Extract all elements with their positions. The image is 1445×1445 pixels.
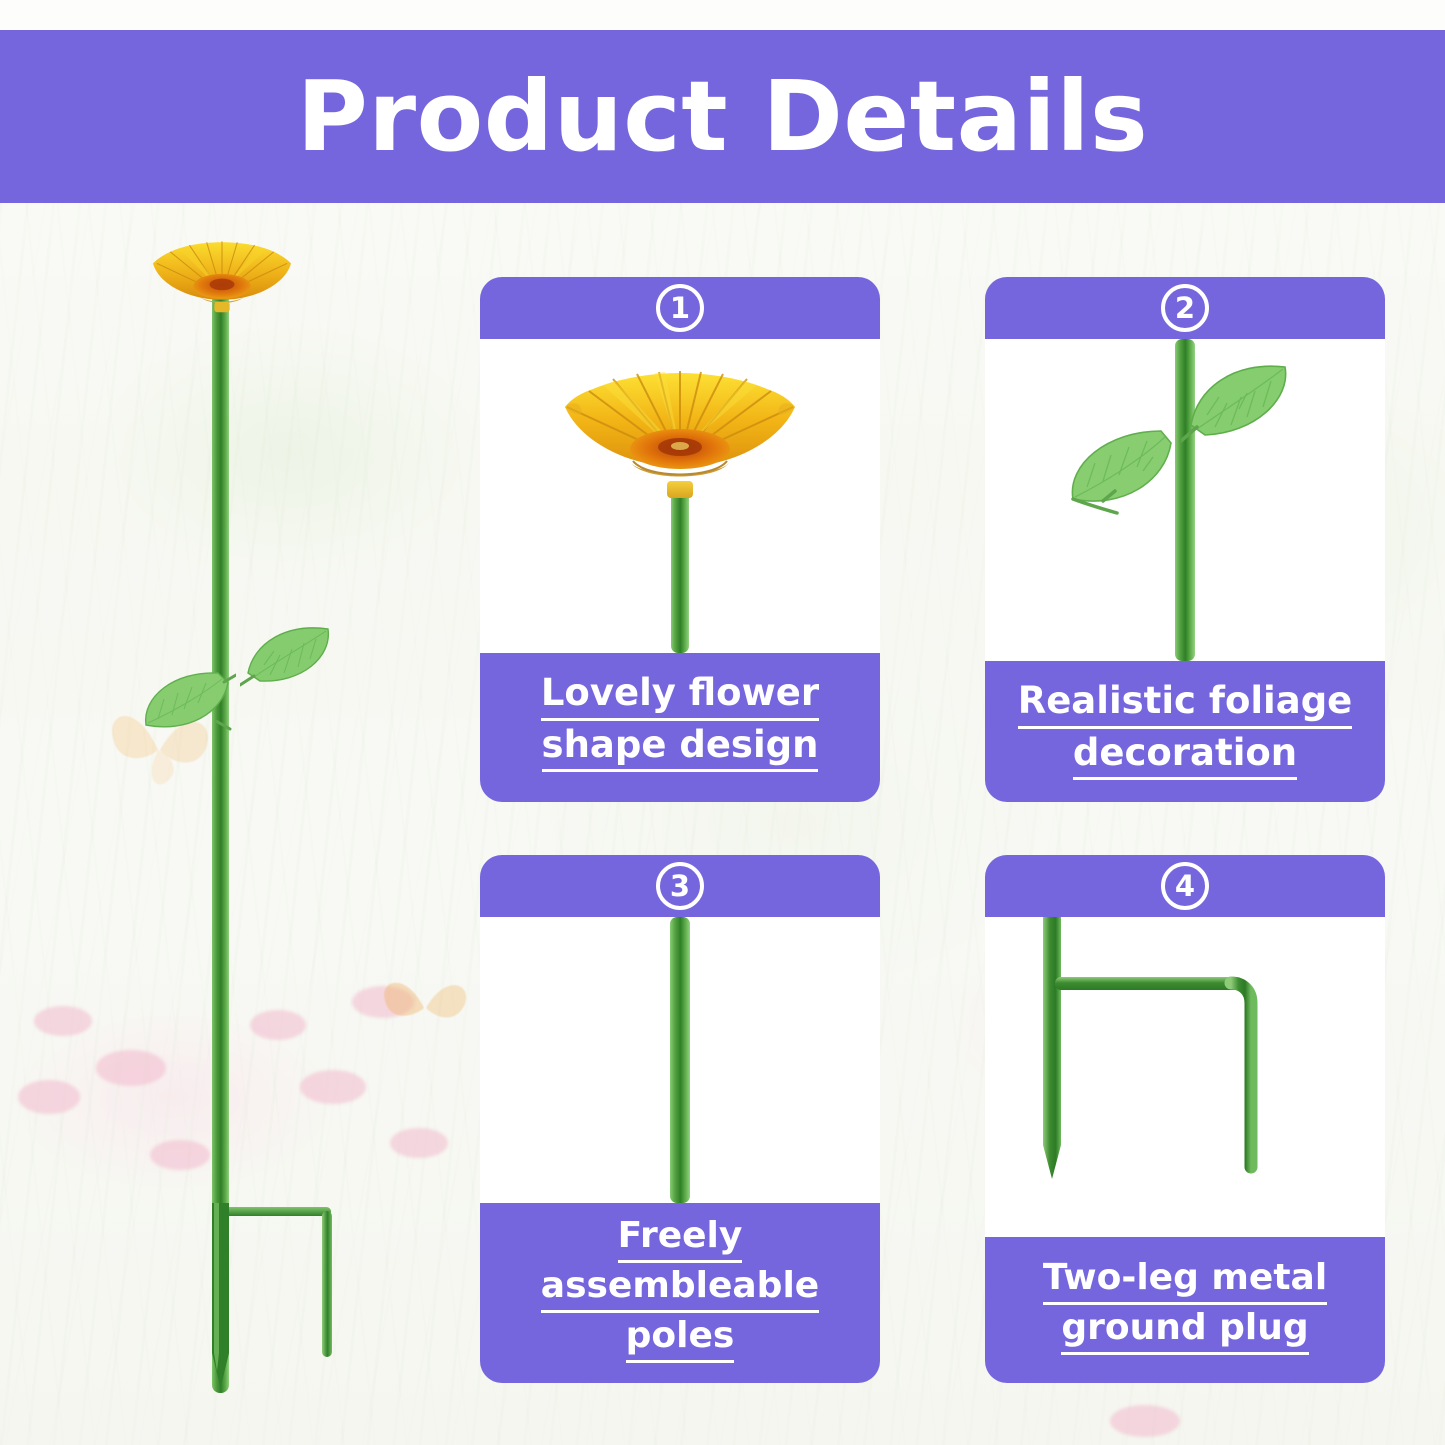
card-3-caption-line-3: poles: [626, 1313, 735, 1363]
detail-card-1[interactable]: 1: [480, 277, 880, 802]
card-1-caption: Lovely flower shape design: [480, 653, 880, 802]
card-3-header: 3: [480, 855, 880, 917]
card-4-caption: Two-leg metal ground plug: [985, 1237, 1385, 1383]
hero-leaf-upper: [240, 621, 336, 687]
card-4-header: 4: [985, 855, 1385, 917]
card-3-caption: Freely assembleable poles: [480, 1203, 880, 1383]
number-badge-4: 4: [1161, 862, 1209, 910]
card-1-header: 1: [480, 277, 880, 339]
card-4-ground-plug: [1035, 917, 1335, 1207]
hero-ground-plug-second-leg: [322, 1211, 332, 1357]
hero-ground-plug-spike: [212, 1203, 229, 1388]
hero-ground-plug-crossbar: [221, 1207, 331, 1216]
hero-leaf-lower: [136, 665, 236, 737]
hero-product-image: [0, 203, 470, 1445]
card-2-caption-line-2: decoration: [1073, 729, 1297, 780]
card-3-pole: [670, 917, 690, 1203]
card-2-header: 2: [985, 277, 1385, 339]
card-2-leaf-lower: [1061, 423, 1183, 515]
card-1-flower: [559, 355, 801, 491]
leaf-foliage-closeup: [985, 339, 1385, 661]
number-badge-3: 3: [656, 862, 704, 910]
card-2-caption: Realistic foliage decoration: [985, 661, 1385, 802]
card-2-leaf-upper: [1181, 355, 1299, 443]
detail-card-2[interactable]: 2: [985, 277, 1385, 802]
card-2-caption-line-1: Realistic foliage: [1018, 677, 1353, 728]
detail-card-4[interactable]: 4: [985, 855, 1385, 1383]
card-4-caption-line-2: ground plug: [1061, 1305, 1308, 1355]
product-details-page: Product Details: [0, 0, 1445, 1445]
page-header-banner: Product Details: [0, 30, 1445, 203]
card-3-caption-line-1: Freely: [618, 1213, 743, 1263]
number-badge-1: 1: [656, 284, 704, 332]
flower-head-closeup: [480, 339, 880, 653]
page-title: Product Details: [297, 68, 1149, 165]
card-4-caption-line-1: Two-leg metal: [1043, 1255, 1327, 1305]
top-white-strip: [0, 0, 1445, 30]
detail-card-3[interactable]: 3 Freely assembleable poles: [480, 855, 880, 1383]
number-badge-2: 2: [1161, 284, 1209, 332]
two-leg-ground-plug-closeup: [985, 917, 1385, 1237]
card-1-caption-line-2: shape design: [542, 721, 819, 772]
assembleable-pole-closeup: [480, 917, 880, 1203]
card-3-caption-line-2: assembleable: [541, 1263, 819, 1313]
background-blossom: [1110, 1405, 1180, 1437]
hero-flower-head: [148, 225, 296, 317]
card-1-stem: [671, 491, 689, 653]
card-1-caption-line-1: Lovely flower: [541, 669, 819, 720]
